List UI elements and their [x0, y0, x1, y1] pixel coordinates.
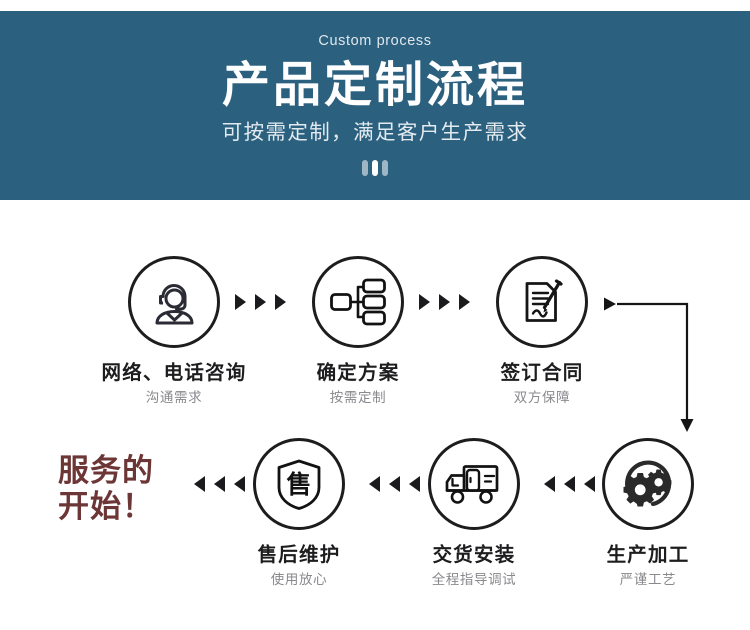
arrow-right-icon [235, 294, 246, 310]
process-step-aftersales[interactable]: 售 售后维护 使用放心 [219, 438, 379, 587]
arrow-left-icon [194, 476, 205, 492]
step-subtitle: 全程指导调试 [394, 574, 554, 588]
service-start-line-1: 服务的 [58, 453, 193, 489]
step-subtitle: 按需定制 [278, 392, 438, 406]
shield-after-sales-icon: 售 [253, 438, 345, 530]
page-title: 产品定制流程 [222, 60, 528, 111]
flowchart-icon [312, 256, 404, 348]
decorative-bars [362, 160, 388, 176]
service-start-line-2: 开始！ [58, 489, 193, 525]
step-subtitle: 使用放心 [219, 574, 379, 588]
arrow-right-icon [255, 294, 266, 310]
step-subtitle: 严谨工艺 [568, 574, 728, 588]
decorative-bar-right [382, 160, 388, 176]
arrow-right-icon [419, 294, 430, 310]
step-title: 网络、电话咨询 [94, 363, 254, 383]
step-title: 签订合同 [462, 363, 622, 383]
svg-text:售: 售 [286, 470, 311, 499]
step-title: 售后维护 [219, 545, 379, 565]
decorative-bar-left [362, 160, 368, 176]
elbow-connector-contract-to-production [600, 288, 700, 438]
header-banner: Custom process 产品定制流程 可按需定制，满足客户生产需求 [0, 11, 750, 200]
step-title: 生产加工 [568, 545, 728, 565]
step-subtitle: 双方保障 [462, 392, 622, 406]
arrow-left-icon [369, 476, 380, 492]
process-flow: 网络、电话咨询 沟通需求 确定 [0, 200, 750, 630]
gears-icon [602, 438, 694, 530]
service-start-label: 服务的 开始！ [58, 453, 193, 526]
process-step-delivery[interactable]: 交货安装 全程指导调试 [394, 438, 554, 587]
decorative-bar-center [372, 160, 378, 176]
arrow-right-icon [439, 294, 450, 310]
step-title: 交货安装 [394, 545, 554, 565]
step-title: 确定方案 [278, 363, 438, 383]
custom-process-infographic: Custom process 产品定制流程 可按需定制，满足客户生产需求 [0, 0, 750, 630]
contract-signing-icon [496, 256, 588, 348]
process-step-consult[interactable]: 网络、电话咨询 沟通需求 [94, 256, 254, 405]
banner-eyebrow: Custom process [318, 34, 431, 49]
step-subtitle: 沟通需求 [94, 392, 254, 406]
arrow-left-icon [544, 476, 555, 492]
process-step-contract[interactable]: 签订合同 双方保障 [462, 256, 622, 405]
banner-subtitle: 可按需定制，满足客户生产需求 [222, 122, 529, 143]
process-step-production[interactable]: 生产加工 严谨工艺 [568, 438, 728, 587]
customer-service-icon [128, 256, 220, 348]
delivery-truck-icon [428, 438, 520, 530]
process-step-plan[interactable]: 确定方案 按需定制 [278, 256, 438, 405]
